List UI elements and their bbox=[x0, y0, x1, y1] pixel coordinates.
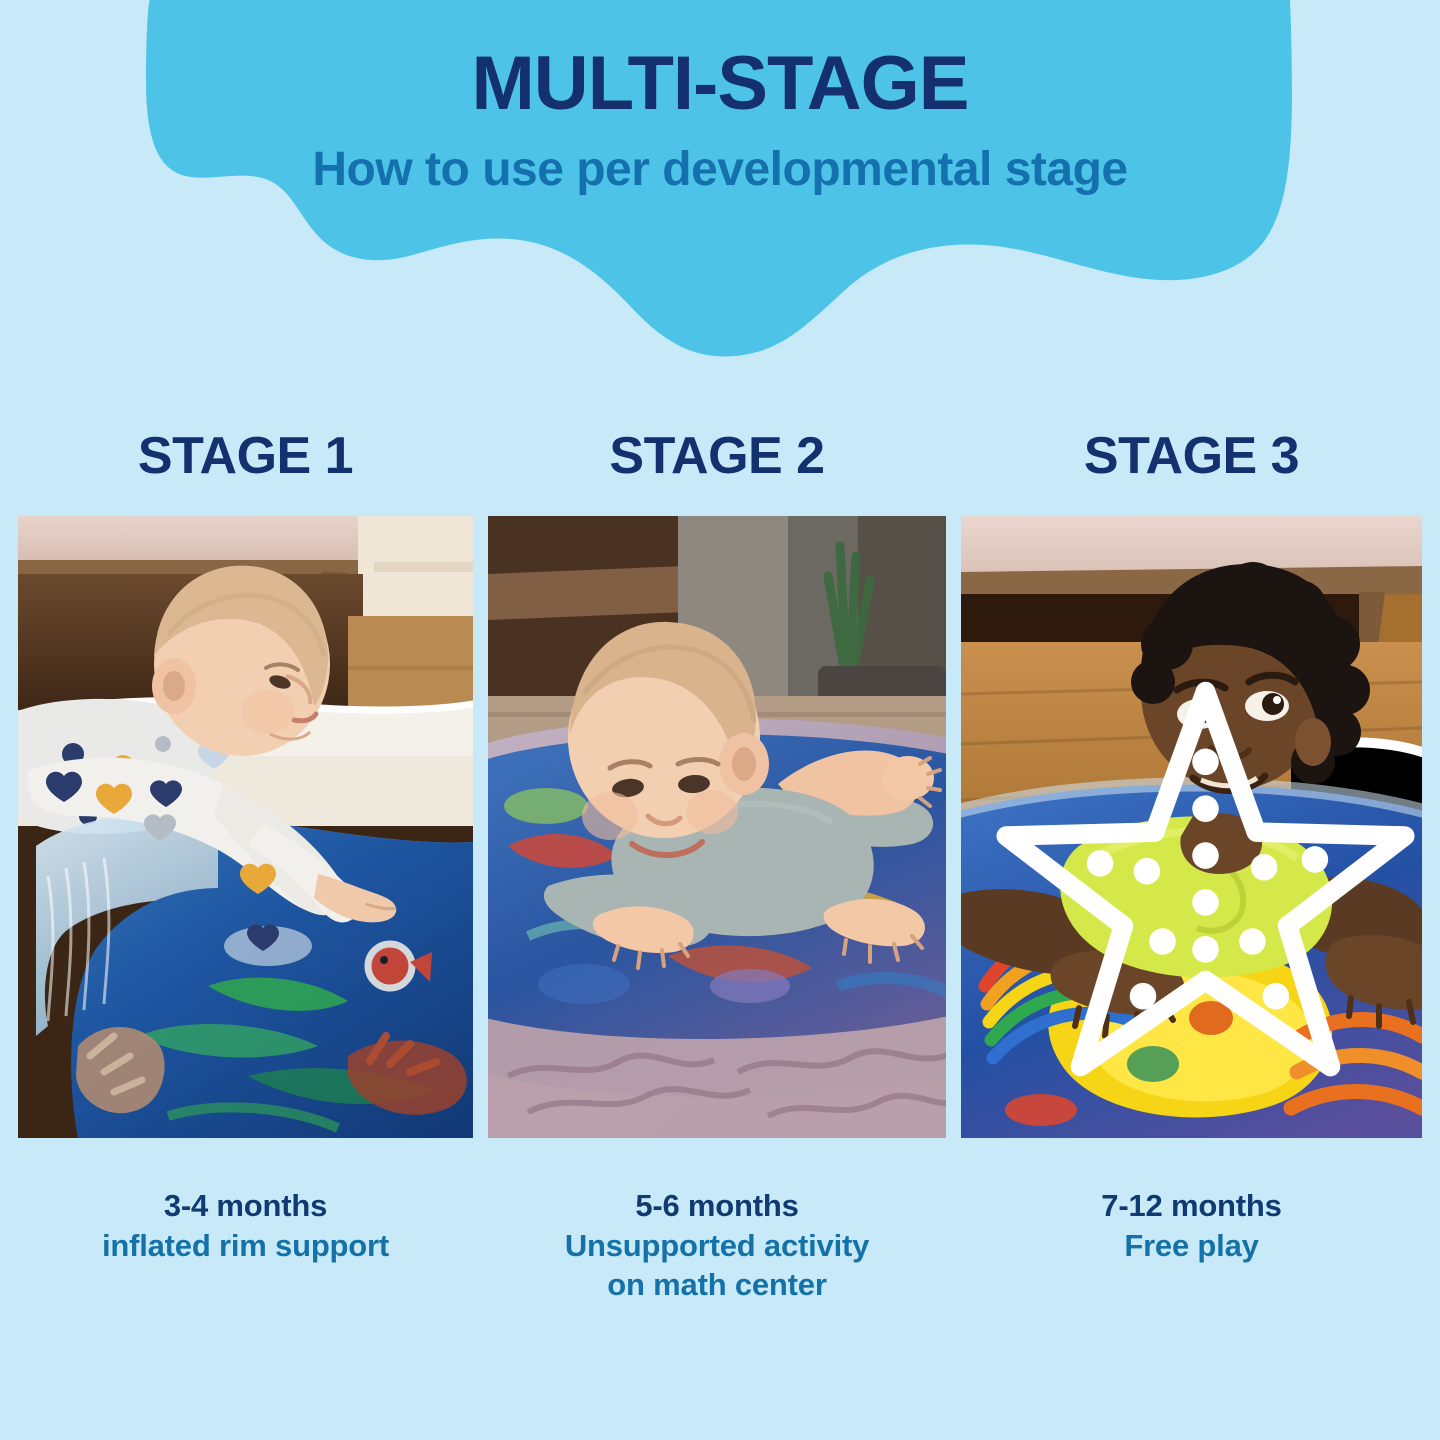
stage-age-1: 3-4 months bbox=[102, 1186, 389, 1226]
stage-grid: STAGE 1 bbox=[18, 430, 1422, 1305]
stage-photo-2 bbox=[488, 516, 946, 1138]
stage-desc-2-line1: Unsupported activity bbox=[565, 1226, 869, 1266]
header-blob bbox=[0, 0, 1440, 360]
stage-caption-3: 7-12 months Free play bbox=[1101, 1186, 1281, 1265]
stage-desc-1: inflated rim support bbox=[102, 1226, 389, 1266]
stage-heading-3: STAGE 3 bbox=[1084, 430, 1299, 482]
stage-column-2: STAGE 2 bbox=[488, 430, 946, 1305]
blob-shape bbox=[146, 0, 1292, 356]
stage-column-3: STAGE 3 bbox=[961, 430, 1422, 1305]
stage-photo-3 bbox=[961, 516, 1422, 1138]
stage-desc-3: Free play bbox=[1101, 1226, 1281, 1266]
stage-desc-2-line2: on math center bbox=[565, 1265, 869, 1305]
stage-heading-1: STAGE 1 bbox=[138, 430, 353, 482]
stage-column-1: STAGE 1 bbox=[18, 430, 473, 1305]
stage-age-2: 5-6 months bbox=[565, 1186, 869, 1226]
stage-heading-2: STAGE 2 bbox=[609, 430, 824, 482]
starfish-icon bbox=[975, 568, 1422, 1138]
stage-photo-1 bbox=[18, 516, 473, 1138]
stage-caption-1: 3-4 months inflated rim support bbox=[102, 1186, 389, 1265]
stage-caption-2: 5-6 months Unsupported activity on math … bbox=[565, 1186, 869, 1305]
stage-age-3: 7-12 months bbox=[1101, 1186, 1281, 1226]
